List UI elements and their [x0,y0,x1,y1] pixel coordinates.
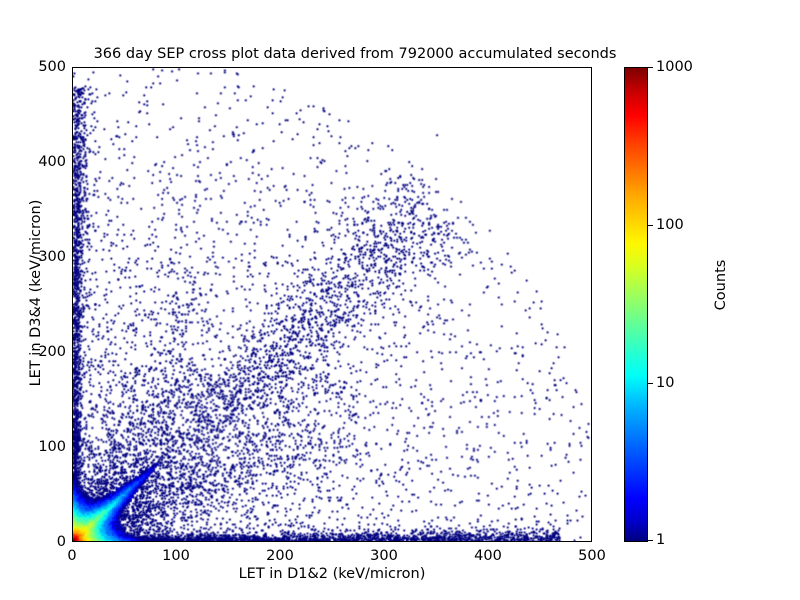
colorbar-tickmark-1000 [648,67,653,68]
x-tick-label-200: 200 [245,549,315,564]
y-tick-label-0: 0 [6,535,66,550]
x-tick-label-400: 400 [453,549,523,564]
colorbar-label-10: 10 [656,376,674,391]
scatter-density-plot [73,68,591,541]
y-tick-label-500: 500 [6,60,66,75]
y-axis-title: LET in D3&4 (keV/micron) [28,153,44,433]
colorbar-tickmark-100 [648,225,653,226]
colorbar-gradient [624,67,648,542]
y-tick-label-100: 100 [6,440,66,455]
x-tick-label-500: 500 [557,549,627,564]
colorbar-label-100: 100 [656,218,684,233]
chart-title-line-1: 366 day SEP cross plot data derived from… [0,45,710,64]
colorbar-label-1: 1 [656,533,665,548]
x-axis-title: LET in D1&2 (keV/micron) [72,566,592,582]
colorbar: 1000 100 10 1 [624,67,648,542]
figure-canvas: 366 day SEP cross plot data derived from… [0,0,800,600]
colorbar-tickmark-10 [648,383,653,384]
colorbar-title: Counts [713,195,729,375]
x-tick-label-300: 300 [349,549,419,564]
colorbar-tickmark-1 [648,540,653,541]
x-tick-label-100: 100 [141,549,211,564]
plot-area [72,67,592,542]
colorbar-label-1000: 1000 [656,60,693,75]
x-tick-label-0: 0 [37,549,107,564]
